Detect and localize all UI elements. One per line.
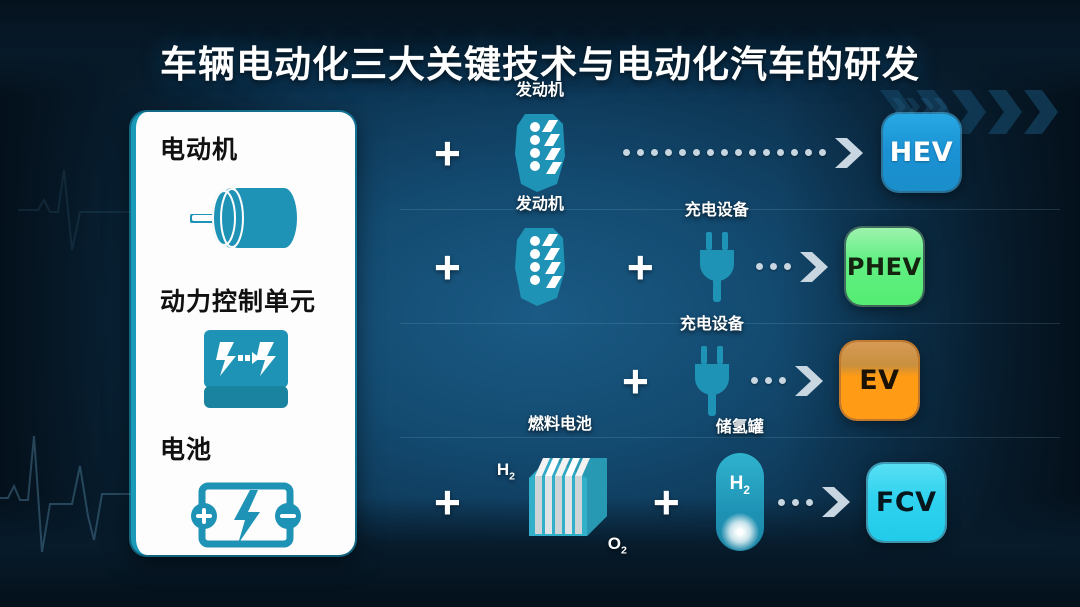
plus-symbol-fcv-1: + xyxy=(434,479,461,525)
charging-plug-icon xyxy=(687,344,737,418)
row-fcv: + 燃料电池 H2 xyxy=(400,438,1060,566)
plus-symbol-fcv-2: + xyxy=(653,479,680,525)
slide-canvas: 车辆电动化三大关键技术与电动化汽车的研发 电动机 xyxy=(0,0,1080,607)
engine-icon xyxy=(509,224,571,310)
vehicle-type-rows: + 发动机 xyxy=(400,96,1060,566)
battery-icon xyxy=(136,476,355,554)
component-engine-hev: 发动机 xyxy=(509,110,571,196)
result-badge-ev[interactable]: EV xyxy=(841,342,918,419)
component-label-charger-phev: 充电设备 xyxy=(685,196,749,220)
hydrogen-tank-icon: H2 xyxy=(716,453,764,551)
arrow-hev xyxy=(623,134,867,172)
component-engine-phev: 发动机 xyxy=(509,224,571,310)
hydrogen-tank-text: H2 xyxy=(730,473,750,497)
result-badge-hev[interactable]: HEV xyxy=(883,114,960,191)
component-label-engine-hev: 发动机 xyxy=(516,76,564,100)
power-control-unit-icon xyxy=(136,328,355,412)
card-item-label-motor: 电动机 xyxy=(160,130,238,166)
component-hydrogen-tank-fcv: 储氢罐 H2 xyxy=(716,453,764,551)
plus-symbol-phev-2: + xyxy=(627,244,654,290)
plus-symbol-hev: + xyxy=(434,130,461,176)
component-label-fuel-cell: 燃料电池 xyxy=(528,410,592,434)
card-item-label-pcu: 动力控制单元 xyxy=(160,282,316,318)
component-charger-ev: 充电设备 xyxy=(687,344,737,418)
fuel-cell-output-label: O2 xyxy=(608,534,627,556)
row-hev: + 发动机 xyxy=(400,96,1060,210)
card-item-label-battery: 电池 xyxy=(160,430,212,466)
component-label-hydrogen-tank: 储氢罐 xyxy=(716,413,764,437)
fuel-cell-stack-icon xyxy=(519,454,615,546)
result-badge-phev[interactable]: PHEV xyxy=(846,228,923,305)
charging-plug-icon xyxy=(692,230,742,304)
engine-icon xyxy=(509,110,571,196)
arrow-phev xyxy=(756,248,832,286)
plus-symbol-ev: + xyxy=(622,358,649,404)
fuel-cell-input-label: H2 xyxy=(497,460,515,482)
ecg-waveform-icon xyxy=(0,420,144,570)
ecg-waveform-secondary-icon xyxy=(18,150,138,270)
component-fuel-cell-fcv: 燃料电池 H2 xyxy=(497,452,623,552)
component-label-engine-phev: 发动机 xyxy=(516,190,564,214)
row-phev: + 发动机 + 充电设备 xyxy=(400,210,1060,324)
electric-motor-icon xyxy=(136,174,355,260)
key-technologies-card: 电动机 动力控制单元 xyxy=(131,112,355,555)
result-badge-fcv[interactable]: FCV xyxy=(868,464,945,541)
component-label-charger-ev: 充电设备 xyxy=(680,310,744,334)
arrow-fcv xyxy=(778,483,854,521)
component-charger-phev: 充电设备 xyxy=(692,230,742,304)
arrow-ev xyxy=(751,362,827,400)
plus-symbol-phev-1: + xyxy=(434,244,461,290)
